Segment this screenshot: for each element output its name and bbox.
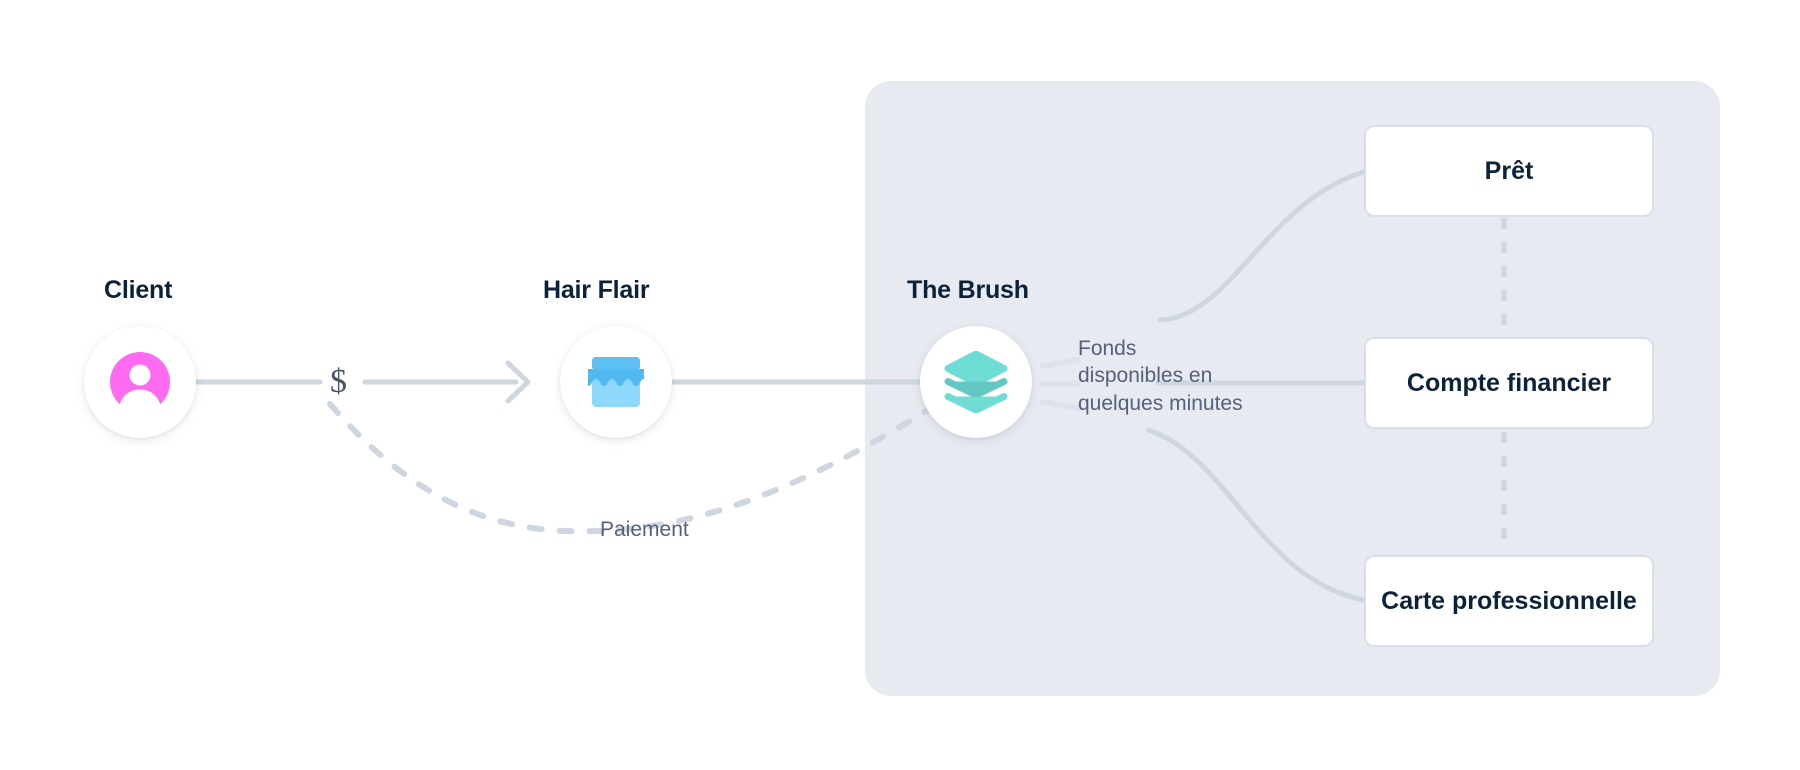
arrowhead-icon (508, 363, 528, 401)
node-merchant[interactable] (560, 326, 672, 438)
node-label-platform: The Brush (907, 276, 1029, 305)
diagram-canvas: Client $ Hair Flair Paiement The Brush (0, 0, 1800, 770)
outcome-box-financial-account[interactable]: Compte financier (1364, 337, 1654, 429)
outcome-box-business-card[interactable]: Carte professionnelle (1364, 555, 1654, 647)
outcome-box-loan[interactable]: Prêt (1364, 125, 1654, 217)
node-label-merchant: Hair Flair (543, 276, 649, 305)
storefront-icon (585, 353, 647, 411)
node-label-client: Client (104, 276, 172, 305)
platform-funds-note: Fonds disponibles en quelques minutes (1078, 335, 1243, 417)
edge-label-payment: Paiement (600, 518, 689, 542)
node-platform[interactable] (920, 326, 1032, 438)
person-avatar-icon (107, 349, 173, 415)
node-client[interactable] (84, 326, 196, 438)
layers-stack-icon (944, 351, 1008, 413)
money-symbol: $ (330, 363, 347, 401)
